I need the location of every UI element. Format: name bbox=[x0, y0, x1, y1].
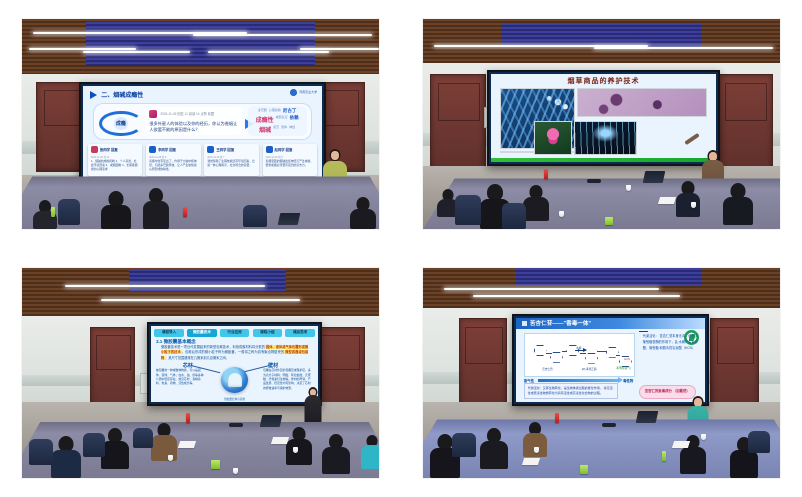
chat-icon bbox=[266, 146, 273, 153]
ceiling bbox=[423, 19, 780, 65]
word-cloud: 多巴胺 心理依赖 尼古丁 成瘾性 戒断反应 依赖 烟碱 奖赏 受体 神经 bbox=[248, 106, 307, 136]
projection-screen: 苦杏仁苷——"香毒一体" bbox=[512, 314, 709, 406]
question-text: 很多外星人的体验以及你的经历，你认为香烟让人欲罢不能的原因是什么？ bbox=[149, 121, 238, 134]
ceiling-panel bbox=[516, 268, 702, 286]
chair bbox=[455, 195, 481, 225]
slide-title: 二、烟碱成瘾性 bbox=[101, 90, 143, 99]
metabolic-activation-note: 代谢活化： 苦杏仁苷本身无毒，但在 β-葡萄糖苷酶的作用下，会 水解产生苯甲醛、… bbox=[643, 334, 700, 352]
cup bbox=[691, 202, 696, 208]
ceiling-light bbox=[208, 51, 329, 53]
ceiling-light bbox=[444, 288, 658, 290]
paper bbox=[271, 437, 289, 444]
ceiling-light bbox=[29, 48, 136, 50]
cup bbox=[559, 211, 564, 217]
comment-author: 张同学 回复 bbox=[100, 147, 118, 152]
slide-nicotine-addiction: 二、烟碱成瘾性 河南农业大学 成瘾 2024-11-26 bbox=[83, 86, 322, 179]
slide-tab-3[interactable]: 课程小结 bbox=[253, 329, 283, 337]
comment-author: 李同学 回复 bbox=[158, 147, 176, 152]
slide-tab-2[interactable]: 行业应用 bbox=[220, 329, 250, 337]
microphone bbox=[602, 423, 616, 427]
word-cloud-item: 尼古丁 bbox=[283, 108, 297, 114]
comment-body: 香烟里面的烟碱会使神经元产生依赖，要想戒烟必须要有强烈的意志力。 bbox=[266, 159, 315, 167]
slide-paragraph: 微胶囊技术是一项近代发展起来的新型包覆技术，利用成膜材料将分散的固体、液体或气体… bbox=[161, 345, 308, 362]
ceiling-light bbox=[473, 295, 680, 297]
bond-line bbox=[580, 353, 587, 354]
photo-collage: 二、烟碱成瘾性 河南农业大学 成瘾 2024-11-26 bbox=[0, 0, 802, 497]
chair bbox=[502, 203, 526, 229]
audience-member bbox=[523, 187, 549, 221]
comment-author: 王同学 回复 bbox=[216, 147, 234, 152]
ceiling-panel bbox=[129, 269, 286, 291]
comment-card: 李同学 回复 2024-11-26 赞 9 香烟中含有尼古丁，作用于大脑中枢神经… bbox=[146, 144, 201, 176]
audience-member bbox=[101, 429, 129, 469]
collage-panel-bottom-right[interactable]: 苦杏仁苷——"香毒一体" bbox=[401, 249, 802, 497]
bottle bbox=[183, 207, 187, 217]
bottle bbox=[544, 169, 548, 179]
body bbox=[680, 447, 706, 474]
door-left bbox=[430, 74, 486, 173]
tissue-box bbox=[580, 465, 588, 474]
hexagon-ring bbox=[585, 353, 598, 364]
reaction-label-hcn: HCN bbox=[624, 358, 630, 361]
ceiling-light bbox=[83, 51, 190, 53]
cup bbox=[534, 447, 539, 453]
body bbox=[730, 450, 758, 478]
comment-body: 香烟中含有尼古丁，作用于大脑中枢神经，引起多巴胺释放，让人产生愉悦感从而形成依赖… bbox=[149, 159, 198, 172]
microcapsule-diagram bbox=[221, 367, 248, 393]
core-description: 被包覆的一种或数种物质，可以是固体、液体、气体；在水、油、醇等多种介质中稳定存在… bbox=[156, 368, 206, 395]
word-cloud-item: 受体 bbox=[281, 125, 287, 134]
ceiling bbox=[22, 19, 379, 76]
word-cloud-item: 戒断反应 bbox=[276, 115, 288, 124]
door-right bbox=[710, 318, 758, 412]
reaction-label-benzaldehyde: 苯甲醛(香气) bbox=[616, 366, 631, 370]
comment-body: 1、烟碱的成瘾机制 2、个人意愿、社会环境因素 3、戒烟困难 4、长期吸烟者的心… bbox=[91, 159, 140, 172]
audience-member bbox=[286, 429, 312, 465]
body bbox=[101, 441, 129, 469]
mold-spore-micrograph-image bbox=[577, 88, 707, 118]
question-card: 2024-11-26 回复 11 阅读 14 点赞 收藏 很多外星人的体验以及你… bbox=[145, 107, 242, 136]
ceiling-light bbox=[300, 48, 379, 50]
chair bbox=[83, 433, 105, 457]
slide-tab-0[interactable]: 课程导入 bbox=[154, 329, 184, 337]
university-logo: 河南农业大学 bbox=[290, 89, 317, 96]
microphone bbox=[229, 423, 243, 427]
audience-member bbox=[480, 429, 508, 469]
comment-card-header: 王同学 回复 bbox=[207, 146, 256, 153]
paragraph-part: ，包覆后形成的微小粒子称为微胶囊，一般将之称为具有聚合物壁壳的 bbox=[182, 350, 284, 354]
presenter-face bbox=[331, 151, 339, 160]
body bbox=[523, 197, 549, 221]
audience-member bbox=[322, 436, 350, 474]
ceiling-light bbox=[65, 285, 265, 287]
ceiling-light bbox=[594, 47, 773, 49]
definition-note: 代谢活化：又称生物转化，是生物体通过酶的催化作用， 将无活性或低毒性物质转化为具… bbox=[524, 383, 618, 399]
chair bbox=[58, 199, 80, 225]
footer-right-label: 毒性物 bbox=[623, 378, 633, 383]
body bbox=[480, 441, 508, 469]
slide-title: 烟草商品的养护技术 bbox=[491, 76, 715, 86]
conference-table bbox=[423, 419, 780, 477]
avatar-icon bbox=[149, 110, 157, 118]
collage-panel-top-right[interactable]: 烟草商品的养护技术 bbox=[401, 0, 802, 249]
chair bbox=[748, 431, 770, 453]
reaction-arrow-icon bbox=[575, 350, 586, 351]
slide-header: 苦杏仁苷——"香毒一体" bbox=[516, 318, 705, 329]
hexagon-ring bbox=[534, 345, 547, 356]
body bbox=[350, 209, 376, 229]
slide-microcapsule: 课程导入 微胶囊技术 行业应用 课程小结 课后思考 3.1 微胶囊基本概念 微胶… bbox=[151, 326, 318, 402]
bond-line bbox=[597, 351, 607, 352]
body bbox=[723, 197, 753, 225]
body bbox=[101, 205, 131, 229]
tissue-box bbox=[211, 460, 220, 469]
photo-bottom-left: 课程导入 微胶囊技术 行业应用 课程小结 课后思考 3.1 微胶囊基本概念 微胶… bbox=[22, 268, 379, 478]
ring-label: 成瘾 bbox=[114, 117, 128, 130]
audience-member bbox=[143, 189, 169, 229]
slide-header: 二、烟碱成瘾性 bbox=[90, 89, 314, 100]
comment-card: 赵同学 回复 2024-11-26 赞 5 香烟里面的烟碱会使神经元产生依赖，要… bbox=[263, 144, 318, 176]
word-cloud-item: 烟碱 bbox=[259, 125, 271, 134]
comment-body: 我觉得除了生理依赖还有环境因素，比如一种心理暗示，社交场合的需要。 bbox=[207, 159, 256, 167]
heart-icon bbox=[91, 146, 98, 153]
audience-member bbox=[676, 183, 700, 217]
paper bbox=[178, 441, 196, 448]
reaction-label-right: (R)-苯羟乙腈 bbox=[582, 367, 597, 371]
comment-card-header: 李同学 回复 bbox=[149, 146, 198, 153]
laptop bbox=[260, 415, 283, 427]
audience-member bbox=[51, 438, 81, 478]
comment-card-list: 张同学 回复 2024-11-26 赞 12 1、烟碱的成瘾机制 2、个人意愿、… bbox=[88, 144, 317, 176]
audience-member bbox=[361, 435, 379, 469]
flag-icon bbox=[207, 146, 214, 153]
chair bbox=[452, 433, 476, 457]
word-cloud-item: 奖赏 bbox=[273, 125, 279, 134]
word-cloud-item: 依赖 bbox=[290, 115, 299, 124]
word-cloud-item: 成瘾性 bbox=[256, 115, 274, 124]
slide-tab-1[interactable]: 微胶囊技术 bbox=[187, 329, 217, 337]
ceiling-panel bbox=[502, 23, 702, 47]
addiction-ring: 成瘾 bbox=[99, 111, 142, 136]
chair bbox=[243, 205, 267, 227]
audience-member bbox=[350, 199, 376, 229]
ceiling-panel bbox=[86, 22, 314, 66]
body bbox=[523, 433, 547, 457]
question-meta: 2024-11-26 回复 11 阅读 14 点赞 收藏 bbox=[160, 111, 214, 116]
audience-member bbox=[723, 185, 753, 225]
ceiling bbox=[22, 268, 379, 318]
body bbox=[51, 450, 81, 478]
bottle bbox=[662, 451, 666, 461]
comment-author: 赵同学 回复 bbox=[275, 147, 293, 152]
bottle bbox=[186, 413, 190, 423]
slide-amygdalin: 苦杏仁苷——"香毒一体" bbox=[516, 318, 705, 402]
ceiling-light bbox=[101, 299, 301, 301]
word-cloud-item: 多巴胺 bbox=[258, 108, 267, 114]
paper bbox=[522, 458, 540, 465]
ceiling bbox=[423, 268, 780, 310]
bond-line bbox=[546, 353, 553, 354]
bottle bbox=[555, 413, 559, 423]
reaction-diagram: 水解 苦杏仁苷 (R)-苯羟乙腈 HCN 苯甲醛(香气) bbox=[524, 333, 635, 377]
question-meta-row: 2024-11-26 回复 11 阅读 14 点赞 收藏 bbox=[149, 110, 238, 118]
reaction-label-left: 苦杏仁苷 bbox=[542, 367, 552, 371]
word-cloud-item: 神经 bbox=[289, 125, 295, 134]
paper bbox=[657, 197, 675, 204]
body bbox=[143, 201, 169, 229]
tissue-box bbox=[605, 217, 613, 225]
photo-bottom-right: 苦杏仁苷——"香毒一体" bbox=[423, 268, 780, 478]
bond-line bbox=[562, 351, 567, 352]
bond-line bbox=[616, 355, 620, 356]
chair bbox=[133, 428, 153, 448]
body bbox=[361, 445, 379, 469]
pink-spore-head-image bbox=[534, 121, 572, 155]
chair bbox=[29, 439, 53, 465]
penicillium-sem-image bbox=[574, 121, 637, 155]
bottle bbox=[51, 207, 55, 217]
paragraph-part: 微胶囊技术是一项近代发展起来的新型包覆技术，利用成膜材料将分散的 bbox=[161, 345, 265, 349]
body bbox=[322, 447, 350, 474]
photo-top-left: 二、烟碱成瘾性 河南农业大学 成瘾 2024-11-26 bbox=[22, 19, 379, 229]
slide-title: 苦杏仁苷——"香毒一体" bbox=[530, 319, 591, 327]
photo-top-right: 烟草商品的养护技术 bbox=[423, 19, 780, 229]
word-cloud-item: 心理依赖 bbox=[269, 108, 281, 114]
laptop bbox=[636, 411, 659, 423]
cup bbox=[233, 468, 238, 474]
paper bbox=[672, 441, 690, 448]
cup bbox=[293, 447, 298, 453]
ceiling-light bbox=[193, 34, 372, 36]
slide-body: 成瘾 2024-11-26 回复 11 阅读 14 点赞 收藏 很多外星人的体验… bbox=[93, 103, 313, 140]
comment-card: 王同学 回复 2024-11-26 赞 7 我觉得除了生理依赖还有环境因素，比如… bbox=[204, 144, 259, 176]
footer-bar bbox=[491, 158, 715, 162]
projection-screen: 二、烟碱成瘾性 河南农业大学 成瘾 2024-11-26 bbox=[79, 82, 326, 183]
body bbox=[676, 193, 700, 217]
collage-panel-top-left[interactable]: 二、烟碱成瘾性 河南农业大学 成瘾 2024-11-26 bbox=[0, 0, 401, 249]
projection-screen: 烟草商品的养护技术 bbox=[487, 70, 719, 166]
laptop bbox=[643, 171, 666, 183]
paragraph-part: ，其尺寸范围通常在几微米到几百微米之间。 bbox=[165, 356, 229, 360]
slide-tobacco-preservation: 烟草商品的养护技术 bbox=[491, 74, 715, 162]
door-right bbox=[717, 74, 773, 173]
comment-card-header: 张同学 回复 bbox=[91, 146, 140, 153]
chevron-right-icon bbox=[90, 91, 97, 99]
diagram-caption: 微胶囊结构示意图 bbox=[215, 397, 255, 401]
laptop bbox=[278, 213, 301, 225]
slide-tab-list: 课程导入 微胶囊技术 行业应用 课程小结 课后思考 bbox=[154, 329, 315, 337]
logo-text: 河南农业大学 bbox=[299, 91, 317, 94]
door-left bbox=[459, 318, 507, 412]
comment-card: 张同学 回复 2024-11-26 赞 12 1、烟碱的成瘾机制 2、个人意愿、… bbox=[88, 144, 143, 176]
logo-mark-icon bbox=[290, 89, 297, 96]
audience-member bbox=[101, 193, 131, 229]
book-icon bbox=[149, 146, 156, 153]
collage-panel-bottom-left[interactable]: 课程导入 微胶囊技术 行业应用 课程小结 课后思考 3.1 微胶囊基本概念 微胶… bbox=[0, 249, 401, 497]
footer-arrow-bar bbox=[538, 379, 619, 382]
projection-screen: 课程导入 微胶囊技术 行业应用 课程小结 课后思考 3.1 微胶囊基本概念 微胶… bbox=[147, 322, 322, 406]
reaction-label-center: 水解 bbox=[576, 346, 581, 350]
microphone bbox=[587, 179, 601, 183]
comment-card-header: 赵同学 回复 bbox=[266, 146, 315, 153]
body bbox=[286, 439, 312, 465]
bullet-square-icon bbox=[522, 321, 527, 326]
slide-tab-4[interactable]: 课后思考 bbox=[285, 329, 315, 337]
